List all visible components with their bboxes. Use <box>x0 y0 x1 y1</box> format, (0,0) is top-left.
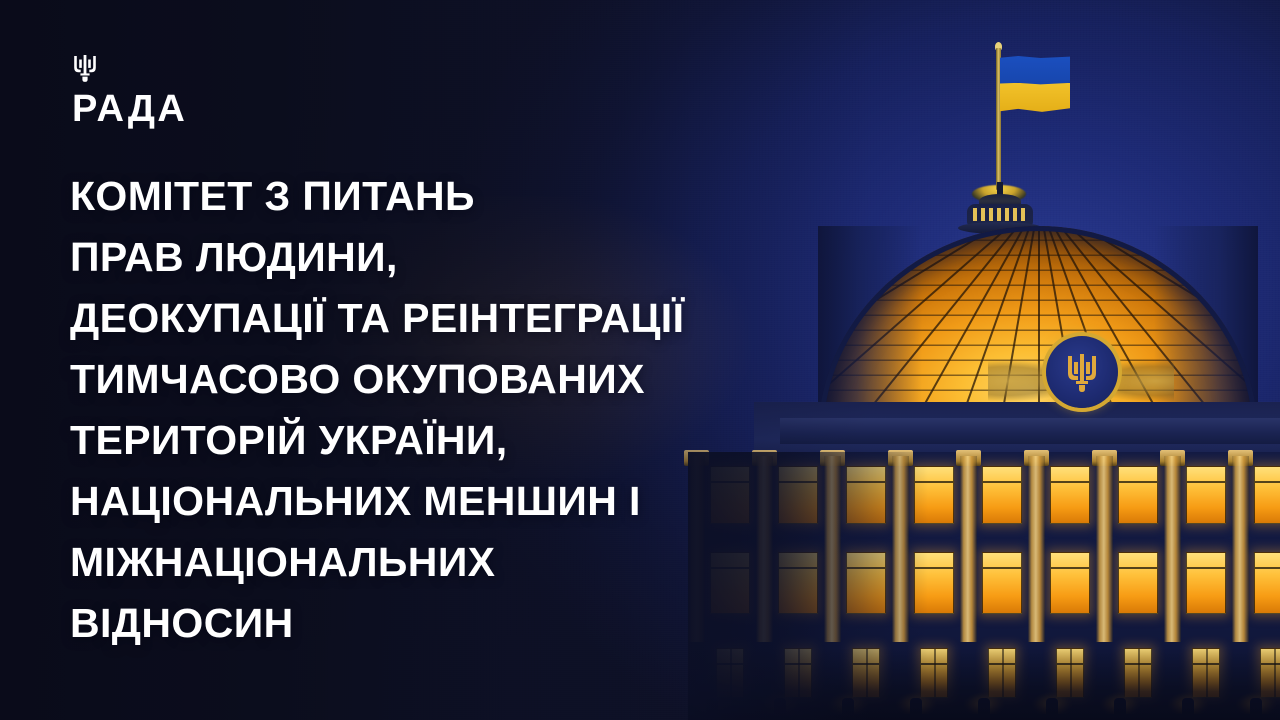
page-title-line: НАЦІОНАЛЬНИХ МЕНШИН І <box>70 471 950 532</box>
ukraine-trident-icon <box>72 52 98 84</box>
page-title-line: ТИМЧАСОВО ОКУПОВАНИХ <box>70 349 950 410</box>
rada-brand-lockup[interactable]: РАДА <box>72 52 187 128</box>
page-title-line: ВІДНОСИН <box>70 593 950 654</box>
page-title-line: ТЕРИТОРІЙ УКРАЇНИ, <box>70 410 950 471</box>
page-title-line: МІЖНАЦІОНАЛЬНИХ <box>70 532 950 593</box>
page-title-line: КОМІТЕТ З ПИТАНЬ <box>70 166 950 227</box>
poster-canvas: РАДА КОМІТЕТ З ПИТАНЬПРАВ ЛЮДИНИ,ДЕОКУПА… <box>0 0 1280 720</box>
page-title-line: ПРАВ ЛЮДИНИ, <box>70 227 950 288</box>
page-title-line: ДЕОКУПАЦІЇ ТА РЕІНТЕГРАЦІЇ <box>70 288 950 349</box>
brand-name: РАДА <box>72 90 187 128</box>
page-title: КОМІТЕТ З ПИТАНЬПРАВ ЛЮДИНИ,ДЕОКУПАЦІЇ Т… <box>70 166 950 654</box>
